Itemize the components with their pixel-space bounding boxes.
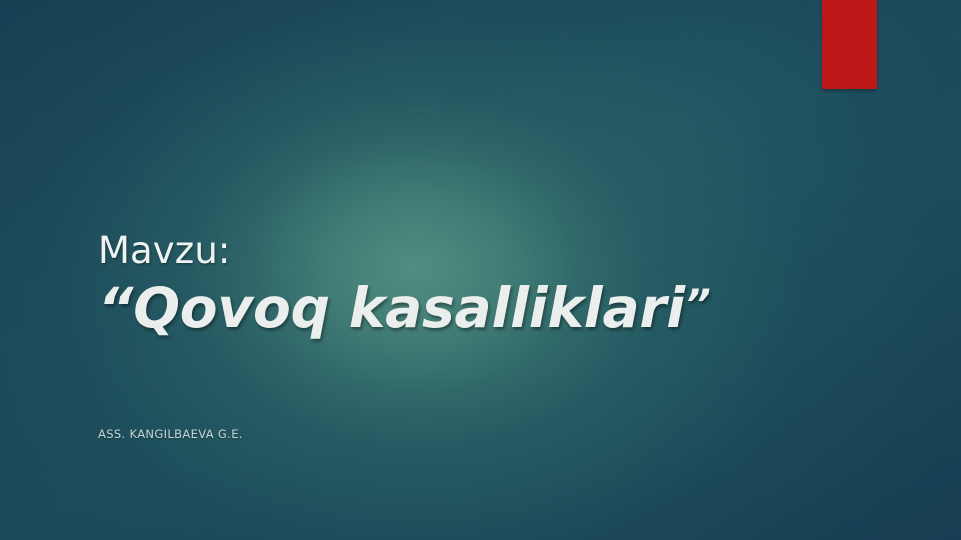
slide-title: “Qovoq kasalliklari”	[98, 279, 898, 337]
title-text-block: Mavzu: “Qovoq kasalliklari”	[98, 232, 898, 337]
slide-eyebrow-label: Mavzu:	[98, 232, 898, 270]
title-slide: Mavzu: “Qovoq kasalliklari” ASS. KANGILB…	[0, 0, 961, 540]
closing-quote-mark: ”	[685, 282, 711, 328]
slide-title-text: Qovoq kasalliklari	[133, 276, 685, 340]
slide-byline: ASS. KANGILBAEVA G.E.	[98, 427, 243, 441]
red-accent-bar	[822, 0, 877, 89]
opening-quote-mark: “	[98, 276, 133, 340]
